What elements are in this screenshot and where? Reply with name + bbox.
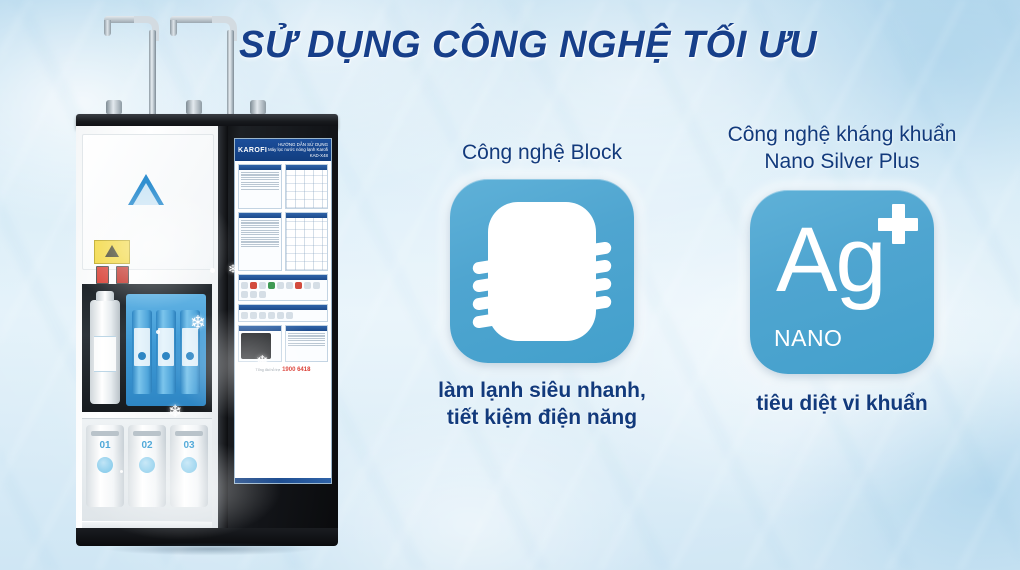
feature-nano-heading-line2: Nano Silver Plus xyxy=(692,149,992,176)
poster-hotline: Tổng đài hỗ trợ 1900 6418 xyxy=(238,365,328,376)
ro-tube-3 xyxy=(180,310,200,394)
product-shadow xyxy=(66,540,354,558)
tile-background xyxy=(450,179,634,363)
tile-background: Ag NANO xyxy=(750,190,934,374)
infographic-canvas: 01 02 03 xyxy=(0,0,1020,570)
feature-block-heading: Công nghệ Block xyxy=(392,140,692,167)
power-switch-hot[interactable] xyxy=(96,266,109,284)
instruction-poster: KAROFI HƯỚNG DẪN SỬ DỤNG Máy lọc nước nó… xyxy=(234,138,332,484)
filter-badge-icon xyxy=(139,457,155,473)
nano-silver-ag-plus-icon: Ag NANO xyxy=(750,190,934,374)
poster-section-control-panel xyxy=(238,325,282,362)
feature-nano-silver: Công nghệ kháng khuẩn Nano Silver Plus A… xyxy=(692,122,992,417)
ro-membrane-housing xyxy=(126,294,206,406)
port-cap-3 xyxy=(250,100,266,114)
poster-body: Tổng đài hỗ trợ 1900 6418 xyxy=(235,161,331,379)
cabinet-door: KAROFI HƯỚNG DẪN SỬ DỤNG Máy lọc nước nó… xyxy=(218,126,338,538)
poster-section-warnings xyxy=(238,274,328,301)
cabinet-body: 01 02 03 xyxy=(76,126,218,538)
poster-section-maintenance xyxy=(285,325,329,362)
filter-number-03: 03 xyxy=(170,440,208,451)
poster-section-usage xyxy=(238,304,328,322)
filter-compartment xyxy=(82,284,212,412)
lower-filter-bay: 01 02 03 xyxy=(82,418,212,521)
port-cap-1 xyxy=(106,100,122,114)
block-cooling-icon xyxy=(450,179,634,363)
caution-triangle-inner xyxy=(133,183,159,205)
filter-slot-02: 02 xyxy=(128,425,166,507)
poster-header: KAROFI HƯỚNG DẪN SỬ DỤNG Máy lọc nước nó… xyxy=(235,139,331,161)
hotline-label: Tổng đài hỗ trợ xyxy=(256,368,281,372)
page-title: SỬ DỤNG CÔNG NGHỆ TỐI ƯU xyxy=(228,24,828,67)
feature-block-caption: làm lạnh siêu nhanh, tiết kiệm điện năng xyxy=(392,377,692,432)
poster-title: HƯỚNG DẪN SỬ DỤNG Máy lọc nước nóng lạnh… xyxy=(267,142,328,159)
product-image: 01 02 03 xyxy=(60,0,360,570)
plus-icon xyxy=(878,204,918,244)
poster-section-schematic xyxy=(285,212,329,271)
filter-slot-01: 01 xyxy=(86,425,124,507)
feature-nano-caption-line1: tiêu diệt vi khuẩn xyxy=(692,390,992,417)
filter-number-01: 01 xyxy=(86,440,124,451)
filter-slot-03: 03 xyxy=(170,425,208,507)
control-panel-illustration xyxy=(241,333,271,359)
filter-cartridge-tall xyxy=(90,300,120,404)
ro-tube-1 xyxy=(132,310,152,394)
feature-nano-heading-line1: Công nghệ kháng khuẩn xyxy=(692,122,992,149)
poster-title-line2: Máy lọc nước nóng lạnh Karofi KAD-X48 xyxy=(267,147,328,158)
poster-section-install-diagram xyxy=(285,164,329,209)
hotline-number: 1900 6418 xyxy=(282,367,310,373)
filter-number-02: 02 xyxy=(128,440,166,451)
feature-nano-heading: Công nghệ kháng khuẩn Nano Silver Plus xyxy=(692,122,992,176)
warning-label-icon xyxy=(94,240,130,264)
filter-badge-icon xyxy=(97,457,113,473)
feature-block-caption-line2: tiết kiệm điện năng xyxy=(392,404,692,431)
port-cap-2 xyxy=(186,100,202,114)
poster-section-intro xyxy=(238,164,282,209)
door-edge xyxy=(218,126,228,538)
power-switch-cold[interactable] xyxy=(116,266,129,284)
nano-label: NANO xyxy=(774,325,842,352)
karofi-logo: KAROFI xyxy=(238,147,267,154)
filter-badge-icon xyxy=(181,457,197,473)
poster-section-specs xyxy=(238,212,282,271)
feature-block: Công nghệ Block làm lạnh siêu nhanh, tiế… xyxy=(392,140,692,431)
poster-footer-bar xyxy=(235,478,331,483)
feature-block-caption-line1: làm lạnh siêu nhanh, xyxy=(392,377,692,404)
ro-tube-2 xyxy=(156,310,176,394)
feature-nano-caption: tiêu diệt vi khuẩn xyxy=(692,390,992,417)
cabinet: 01 02 03 xyxy=(76,126,338,538)
